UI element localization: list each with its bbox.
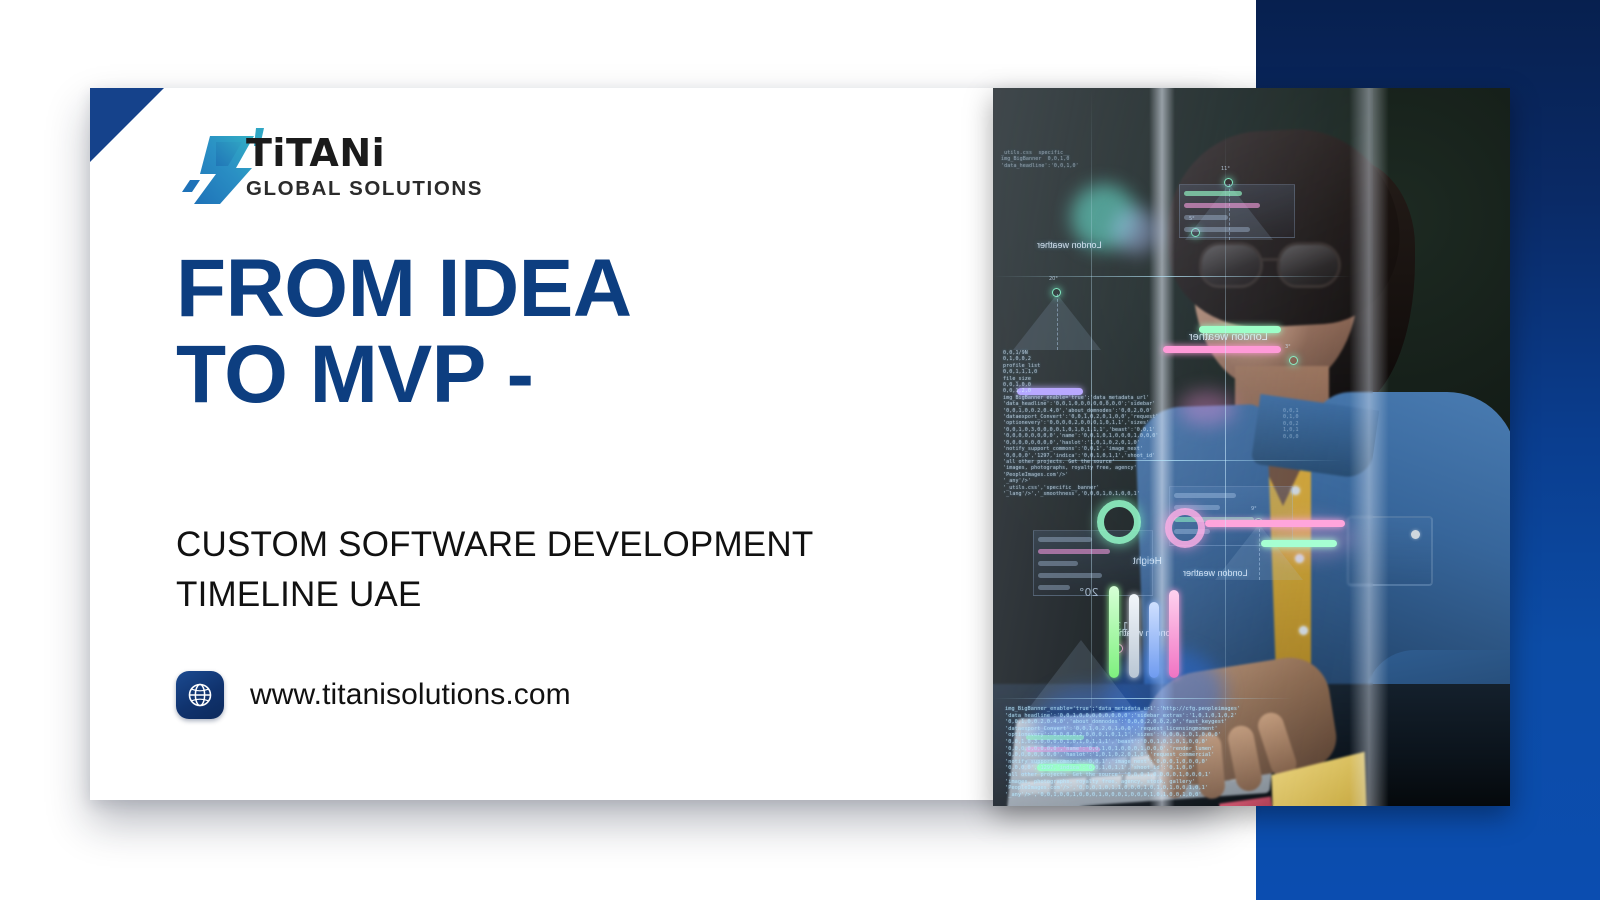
logo-wordmark: TiTANi GLOBAL SOLUTIONS xyxy=(246,134,483,200)
corner-triangle-accent xyxy=(90,88,164,162)
hud-code-block-mid: 0,0,1/9N 0,1,0,0,2 profile_list 0,0,1,1,… xyxy=(1003,350,1159,497)
page-title: FROM IDEA TO MVP - xyxy=(176,246,936,418)
hud-code-block-top: _utils.css specific__ img_BigBanner 0,0,… xyxy=(1001,150,1079,169)
brand-logo[interactable]: TiTANi GLOBAL SOLUTIONS xyxy=(176,116,556,221)
subtitle-line-2: TIMELINE UAE xyxy=(176,570,966,620)
poster-canvas: TiTANi GLOBAL SOLUTIONS FROM IDEA TO MVP… xyxy=(0,0,1600,900)
hero-photo: 20° 11° 9° 13° 5° 3° 20° 13° London weat… xyxy=(993,88,1510,806)
logo-title: TiTANi xyxy=(246,134,483,172)
subtitle-line-1: CUSTOM SOFTWARE DEVELOPMENT xyxy=(176,520,966,570)
logo-tagline: GLOBAL SOLUTIONS xyxy=(246,179,483,200)
data-overlay: 20° 11° 9° 13° 5° 3° 20° 13° London weat… xyxy=(993,88,1510,806)
page-subtitle: CUSTOM SOFTWARE DEVELOPMENT TIMELINE UAE xyxy=(176,520,966,619)
website-row[interactable]: www.titanisolutions.com xyxy=(176,671,571,719)
globe-icon xyxy=(176,671,224,719)
hud-code-block-right: 0,0,1 0,1,0 0,0,2 1,0,1 0,0,0 xyxy=(1283,408,1299,440)
headline-line-1: FROM IDEA xyxy=(176,246,936,332)
headline-line-2: TO MVP - xyxy=(176,332,936,418)
hud-code-block-bottom: img_BigBanner_enable='true';'data_metada… xyxy=(1005,706,1240,798)
website-url[interactable]: www.titanisolutions.com xyxy=(250,678,571,712)
